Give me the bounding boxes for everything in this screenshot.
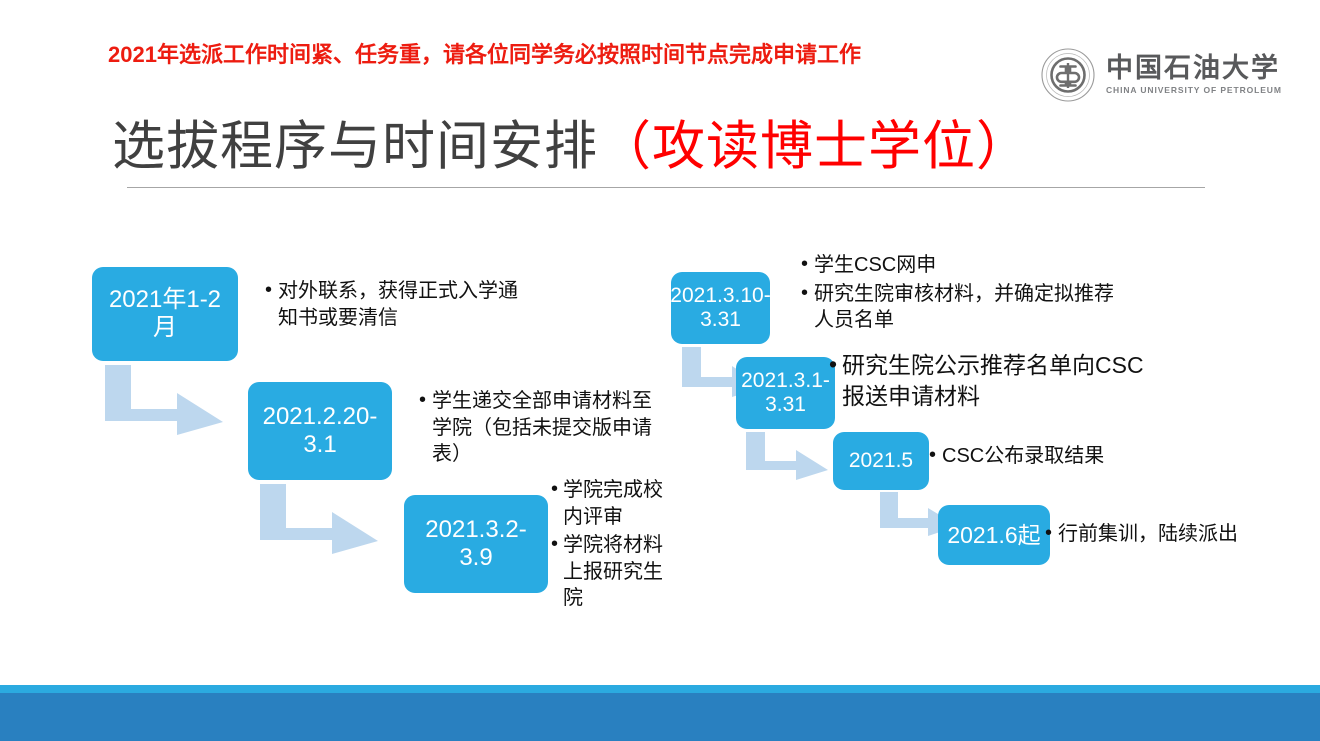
list-item: 行前集训，陆续派出 — [1044, 521, 1294, 548]
university-logo: 中国石油大学 CHINA UNIVERSITY OF PETROLEUM — [1040, 46, 1280, 104]
timeline-chip-step-2[interactable]: 2021.2.20-3.1 — [248, 382, 392, 480]
list-item: 学生CSC网申 — [800, 252, 1130, 279]
timeline-note-step-5: 研究生院公示推荐名单向CSC报送申请材料 — [828, 350, 1163, 413]
title-divider — [127, 187, 1205, 188]
timeline-note-step-1: 对外联系，获得正式入学通知书或要清信 — [264, 278, 524, 333]
logo-chinese-name: 中国石油大学 — [1106, 55, 1282, 82]
elbow-arrow-icon — [260, 484, 378, 554]
header-kicker-text: 2021年选派工作时间紧、任务重，请各位同学务必按照时间节点完成申请工作 — [108, 37, 861, 69]
timeline-note-step-7: 行前集训，陆续派出 — [1044, 521, 1294, 550]
timeline-chip-step-4[interactable]: 2021.3.10-3.31 — [671, 272, 770, 344]
timeline-chip-step-1[interactable]: 2021年1-2月 — [92, 267, 238, 361]
timeline-chip-step-7[interactable]: 2021.6起 — [938, 505, 1050, 565]
list-item: 对外联系，获得正式入学通知书或要清信 — [264, 278, 524, 331]
slide-canvas: 2021年选派工作时间紧、任务重，请各位同学务必按照时间节点完成申请工作 中国石… — [0, 0, 1320, 741]
timeline-chip-step-3[interactable]: 2021.3.2-3.9 — [404, 495, 548, 593]
list-item: 学院完成校内评审 — [550, 477, 668, 530]
elbow-arrow-icon — [105, 365, 223, 435]
timeline-chip-step-6[interactable]: 2021.5 — [833, 432, 929, 490]
timeline-note-step-3: 学院完成校内评审 学院将材料上报研究生院 — [550, 477, 668, 614]
footer-accent-bar — [0, 685, 1320, 693]
page-title-main: 选拔程序与时间安排 — [112, 117, 598, 176]
timeline-note-step-6: CSC公布录取结果 — [928, 443, 1188, 472]
logo-english-name: CHINA UNIVERSITY OF PETROLEUM — [1106, 86, 1282, 95]
timeline-note-step-2: 学生递交全部申请材料至学院（包括未提交版申请表） — [418, 388, 666, 470]
list-item: 学生递交全部申请材料至学院（包括未提交版申请表） — [418, 388, 666, 468]
page-title-parenthetical: （攻读博士学位） — [598, 117, 1030, 176]
elbow-arrow-icon — [746, 432, 828, 480]
logo-wordmark: 中国石油大学 CHINA UNIVERSITY OF PETROLEUM — [1106, 55, 1282, 95]
list-item: 学院将材料上报研究生院 — [550, 532, 668, 612]
list-item: 研究生院审核材料，并确定拟推荐人员名单 — [800, 281, 1130, 334]
timeline-chip-step-5[interactable]: 2021.3.1-3.31 — [736, 357, 835, 429]
list-item: CSC公布录取结果 — [928, 443, 1188, 470]
list-item: 研究生院公示推荐名单向CSC报送申请材料 — [828, 350, 1163, 411]
timeline-note-step-4: 学生CSC网申 研究生院审核材料，并确定拟推荐人员名单 — [800, 252, 1130, 336]
footer-bar — [0, 693, 1320, 741]
page-title: 选拔程序与时间安排（攻读博士学位） — [112, 104, 1030, 180]
university-seal-emblem — [1040, 47, 1096, 103]
